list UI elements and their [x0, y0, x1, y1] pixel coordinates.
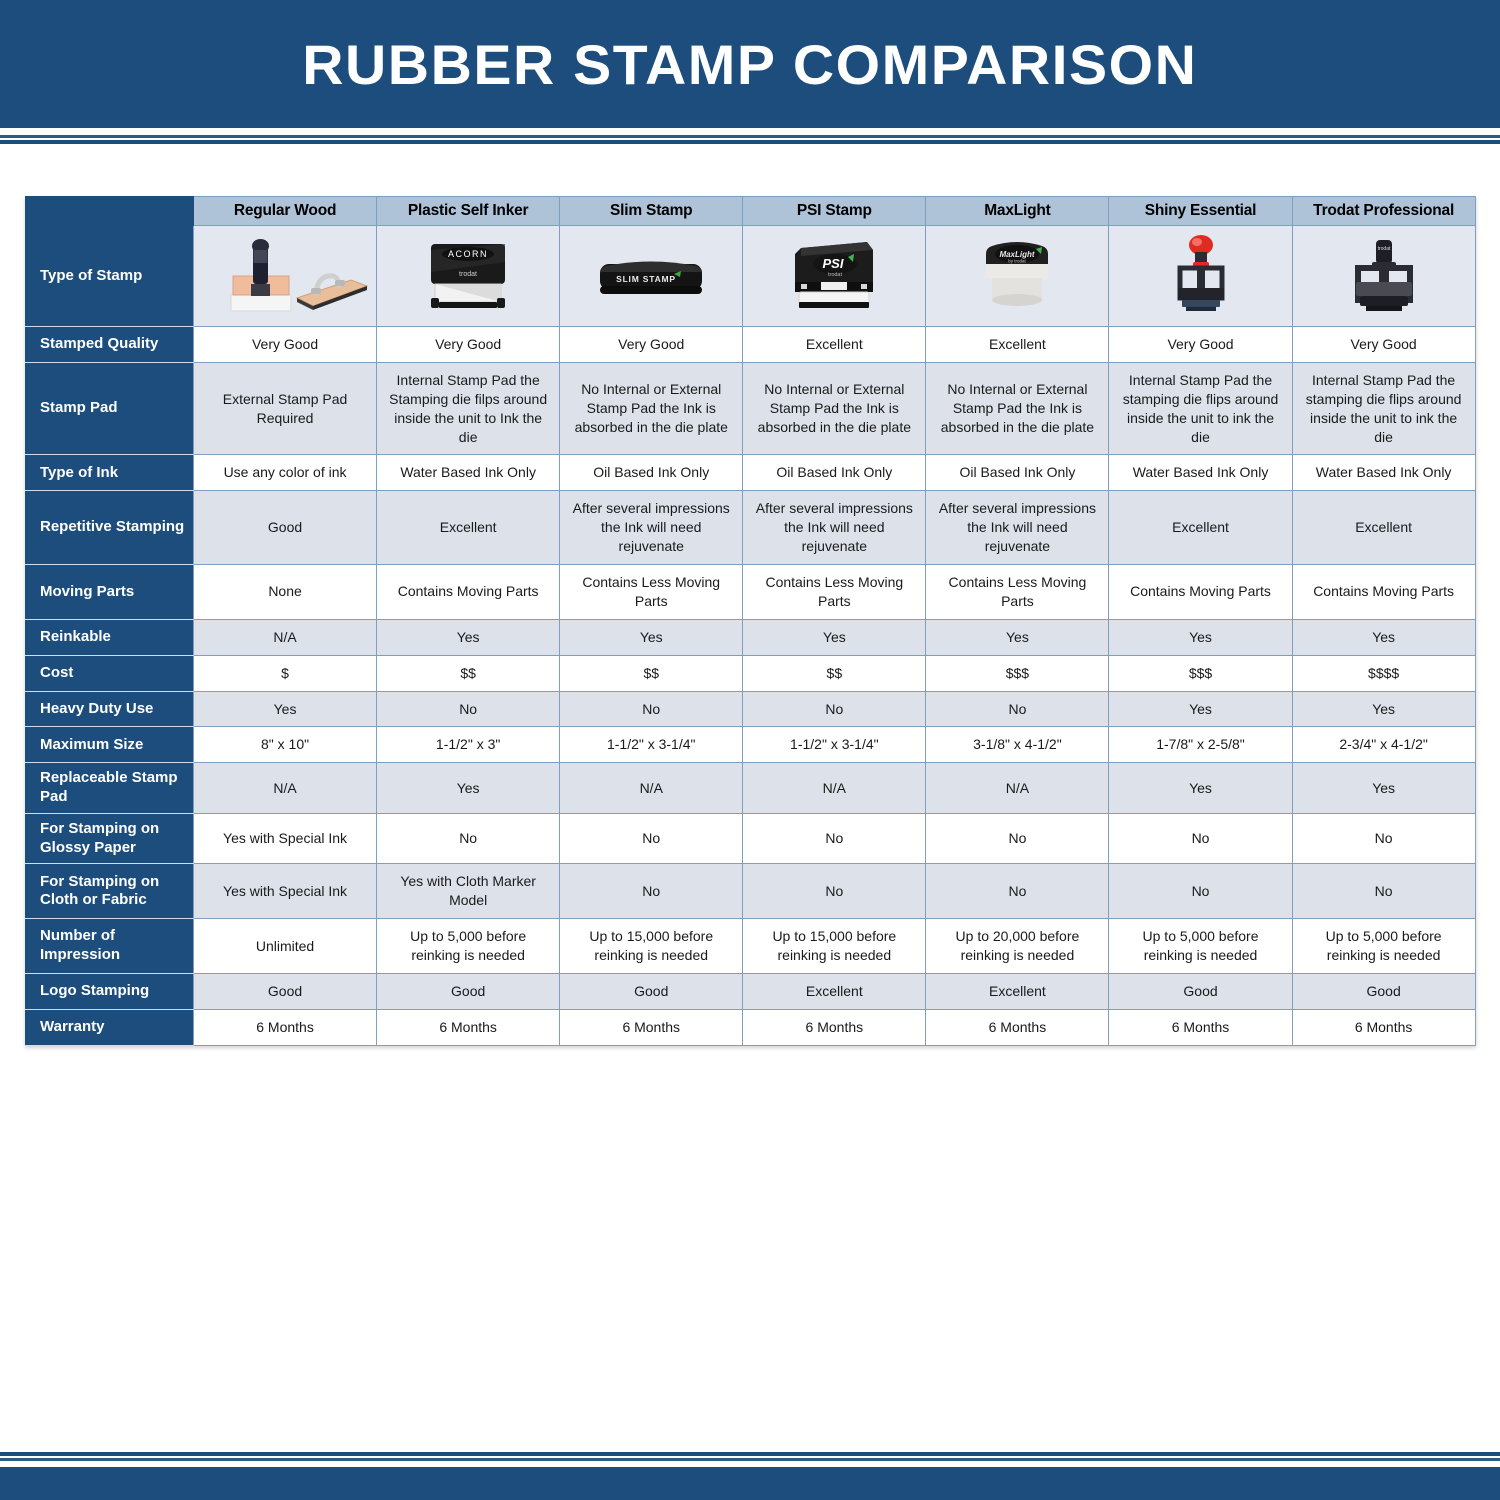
- cell-stamp-pad-maxlight: No Internal or External Stamp Pad the In…: [926, 362, 1109, 455]
- shiny-essential-stamp-image: [1111, 230, 1289, 322]
- cell-glossy-paper-plastic-self-inker: No: [377, 813, 560, 864]
- cell-number-of-impression-psi-stamp: Up to 15,000 before reinking is needed: [743, 919, 926, 974]
- slim-stamp-image: SLIM STAMP: [562, 230, 740, 322]
- maxlight-stamp-image: MaxLight by trodat: [928, 230, 1106, 322]
- cell-reinkable-trodat-professional: Yes: [1292, 619, 1475, 655]
- cell-logo-stamping-maxlight: Excellent: [926, 973, 1109, 1009]
- svg-text:trodat: trodat: [1377, 246, 1390, 252]
- cell-replaceable-stamp-pad-trodat-professional: Yes: [1292, 763, 1475, 814]
- cell-moving-parts-maxlight: Contains Less Moving Parts: [926, 565, 1109, 620]
- row-label-for-stamping-on-cloth-or-fabric: For Stamping on Cloth or Fabric: [26, 864, 194, 919]
- table-body: Type of Stamp: [26, 226, 1476, 1046]
- table-row-number-of-impression: Number of Impression Unlimited Up to 5,0…: [26, 919, 1476, 974]
- cell-maximum-size-trodat-professional: 2-3/4" x 4-1/2": [1292, 727, 1475, 763]
- cell-reinkable-plastic-self-inker: Yes: [377, 619, 560, 655]
- psi-stamp-image: PSI trodat: [745, 230, 923, 322]
- cell-heavy-duty-use-psi-stamp: No: [743, 691, 926, 727]
- plastic-self-inker-stamp-image: ACORN trodat: [379, 230, 557, 322]
- cell-cost-psi-stamp: $$: [743, 655, 926, 691]
- cell-heavy-duty-use-plastic-self-inker: No: [377, 691, 560, 727]
- cell-type-of-stamp-maxlight: MaxLight by trodat: [926, 226, 1109, 327]
- table-row-cost: Cost $ $$ $$ $$ $$$ $$$ $$$$: [26, 655, 1476, 691]
- table-row-type-of-ink: Type of Ink Use any color of ink Water B…: [26, 455, 1476, 491]
- cell-number-of-impression-trodat-professional: Up to 5,000 before reinking is needed: [1292, 919, 1475, 974]
- cell-cloth-fabric-plastic-self-inker: Yes with Cloth Marker Model: [377, 864, 560, 919]
- cell-number-of-impression-maxlight: Up to 20,000 before reinking is needed: [926, 919, 1109, 974]
- table-row-warranty: Warranty 6 Months 6 Months 6 Months 6 Mo…: [26, 1009, 1476, 1045]
- cell-replaceable-stamp-pad-psi-stamp: N/A: [743, 763, 926, 814]
- cell-warranty-shiny-essential: 6 Months: [1109, 1009, 1292, 1045]
- cell-heavy-duty-use-trodat-professional: Yes: [1292, 691, 1475, 727]
- regular-wood-stamp-image: [196, 230, 374, 322]
- table-row-for-stamping-on-glossy-paper: For Stamping on Glossy Paper Yes with Sp…: [26, 813, 1476, 864]
- cell-logo-stamping-slim-stamp: Good: [560, 973, 743, 1009]
- cell-heavy-duty-use-regular-wood: Yes: [194, 691, 377, 727]
- cell-repetitive-stamping-trodat-professional: Excellent: [1292, 491, 1475, 565]
- cell-number-of-impression-plastic-self-inker: Up to 5,000 before reinking is needed: [377, 919, 560, 974]
- cell-number-of-impression-shiny-essential: Up to 5,000 before reinking is needed: [1109, 919, 1292, 974]
- cell-type-of-stamp-slim-stamp: SLIM STAMP: [560, 226, 743, 327]
- cell-logo-stamping-shiny-essential: Good: [1109, 973, 1292, 1009]
- row-label-replaceable-stamp-pad: Replaceable Stamp Pad: [26, 763, 194, 814]
- cell-reinkable-regular-wood: N/A: [194, 619, 377, 655]
- row-label-type-of-stamp: Type of Stamp: [26, 226, 194, 327]
- cell-cost-regular-wood: $: [194, 655, 377, 691]
- cell-logo-stamping-plastic-self-inker: Good: [377, 973, 560, 1009]
- column-header-trodat-professional: Trodat Professional: [1292, 197, 1475, 226]
- cell-stamp-pad-trodat-professional: Internal Stamp Pad the stamping die flip…: [1292, 362, 1475, 455]
- cell-reinkable-shiny-essential: Yes: [1109, 619, 1292, 655]
- svg-text:SLIM STAMP: SLIM STAMP: [616, 274, 676, 284]
- banner-divider-white-top: [0, 128, 1500, 135]
- cell-reinkable-slim-stamp: Yes: [560, 619, 743, 655]
- cell-cost-trodat-professional: $$$$: [1292, 655, 1475, 691]
- column-header-plastic-self-inker: Plastic Self Inker: [377, 197, 560, 226]
- svg-text:PSI: PSI: [823, 256, 844, 271]
- table-row-heavy-duty-use: Heavy Duty Use Yes No No No No Yes Yes: [26, 691, 1476, 727]
- svg-text:trodat: trodat: [459, 271, 477, 278]
- cell-number-of-impression-regular-wood: Unlimited: [194, 919, 377, 974]
- row-label-maximum-size: Maximum Size: [26, 727, 194, 763]
- comparison-table-wrapper: Regular Wood Plastic Self Inker Slim Sta…: [25, 196, 1475, 1046]
- cell-moving-parts-shiny-essential: Contains Moving Parts: [1109, 565, 1292, 620]
- table-header-row: Regular Wood Plastic Self Inker Slim Sta…: [26, 197, 1476, 226]
- table-row-maximum-size: Maximum Size 8" x 10" 1-1/2" x 3" 1-1/2"…: [26, 727, 1476, 763]
- table-row-moving-parts: Moving Parts None Contains Moving Parts …: [26, 565, 1476, 620]
- cell-type-of-ink-trodat-professional: Water Based Ink Only: [1292, 455, 1475, 491]
- cell-repetitive-stamping-shiny-essential: Excellent: [1109, 491, 1292, 565]
- table-row-stamp-pad: Stamp Pad External Stamp Pad Required In…: [26, 362, 1476, 455]
- table-row-stamped-quality: Stamped Quality Very Good Very Good Very…: [26, 327, 1476, 363]
- column-header-maxlight: MaxLight: [926, 197, 1109, 226]
- cell-cloth-fabric-regular-wood: Yes with Special Ink: [194, 864, 377, 919]
- cell-logo-stamping-psi-stamp: Excellent: [743, 973, 926, 1009]
- cell-glossy-paper-shiny-essential: No: [1109, 813, 1292, 864]
- cell-cloth-fabric-slim-stamp: No: [560, 864, 743, 919]
- cell-stamp-pad-psi-stamp: No Internal or External Stamp Pad the In…: [743, 362, 926, 455]
- cell-maximum-size-regular-wood: 8" x 10": [194, 727, 377, 763]
- cell-heavy-duty-use-slim-stamp: No: [560, 691, 743, 727]
- cell-replaceable-stamp-pad-plastic-self-inker: Yes: [377, 763, 560, 814]
- cell-warranty-trodat-professional: 6 Months: [1292, 1009, 1475, 1045]
- table-corner-cell: [26, 197, 194, 226]
- row-label-number-of-impression: Number of Impression: [26, 919, 194, 974]
- cell-moving-parts-plastic-self-inker: Contains Moving Parts: [377, 565, 560, 620]
- cell-type-of-stamp-shiny-essential: [1109, 226, 1292, 327]
- cell-glossy-paper-psi-stamp: No: [743, 813, 926, 864]
- table-row-replaceable-stamp-pad: Replaceable Stamp Pad N/A Yes N/A N/A N/…: [26, 763, 1476, 814]
- bottom-banner: [0, 1467, 1500, 1500]
- cell-type-of-stamp-regular-wood: [194, 226, 377, 327]
- cell-cost-slim-stamp: $$: [560, 655, 743, 691]
- cell-heavy-duty-use-maxlight: No: [926, 691, 1109, 727]
- row-label-for-stamping-on-glossy-paper: For Stamping on Glossy Paper: [26, 813, 194, 864]
- cell-repetitive-stamping-psi-stamp: After several impressions the Ink will n…: [743, 491, 926, 565]
- cell-replaceable-stamp-pad-regular-wood: N/A: [194, 763, 377, 814]
- cell-stamp-pad-plastic-self-inker: Internal Stamp Pad the Stamping die filp…: [377, 362, 560, 455]
- svg-text:ACORN: ACORN: [448, 249, 488, 259]
- row-label-logo-stamping: Logo Stamping: [26, 973, 194, 1009]
- cell-replaceable-stamp-pad-maxlight: N/A: [926, 763, 1109, 814]
- cell-stamp-pad-shiny-essential: Internal Stamp Pad the stamping die flip…: [1109, 362, 1292, 455]
- top-banner: RUBBER STAMP COMPARISON: [0, 0, 1500, 128]
- cell-glossy-paper-trodat-professional: No: [1292, 813, 1475, 864]
- cell-stamped-quality-regular-wood: Very Good: [194, 327, 377, 363]
- row-label-stamped-quality: Stamped Quality: [26, 327, 194, 363]
- comparison-page: RUBBER STAMP COMPARISON Regular Wood Pla…: [0, 0, 1500, 1500]
- cell-number-of-impression-slim-stamp: Up to 15,000 before reinking is needed: [560, 919, 743, 974]
- cell-warranty-psi-stamp: 6 Months: [743, 1009, 926, 1045]
- cell-type-of-ink-shiny-essential: Water Based Ink Only: [1109, 455, 1292, 491]
- table-row-for-stamping-on-cloth-or-fabric: For Stamping on Cloth or Fabric Yes with…: [26, 864, 1476, 919]
- cell-stamped-quality-slim-stamp: Very Good: [560, 327, 743, 363]
- cell-type-of-ink-plastic-self-inker: Water Based Ink Only: [377, 455, 560, 491]
- cell-repetitive-stamping-slim-stamp: After several impressions the Ink will n…: [560, 491, 743, 565]
- row-label-reinkable: Reinkable: [26, 619, 194, 655]
- cell-warranty-regular-wood: 6 Months: [194, 1009, 377, 1045]
- column-header-shiny-essential: Shiny Essential: [1109, 197, 1292, 226]
- cell-maximum-size-plastic-self-inker: 1-1/2" x 3": [377, 727, 560, 763]
- column-header-slim-stamp: Slim Stamp: [560, 197, 743, 226]
- table-header: Regular Wood Plastic Self Inker Slim Sta…: [26, 197, 1476, 226]
- cell-stamped-quality-psi-stamp: Excellent: [743, 327, 926, 363]
- banner-divider-blue-bottom: [0, 140, 1500, 144]
- cell-cost-maxlight: $$$: [926, 655, 1109, 691]
- cell-glossy-paper-regular-wood: Yes with Special Ink: [194, 813, 377, 864]
- cell-moving-parts-trodat-professional: Contains Moving Parts: [1292, 565, 1475, 620]
- table-row-logo-stamping: Logo Stamping Good Good Good Excellent E…: [26, 973, 1476, 1009]
- cell-stamped-quality-trodat-professional: Very Good: [1292, 327, 1475, 363]
- cell-replaceable-stamp-pad-shiny-essential: Yes: [1109, 763, 1292, 814]
- cell-type-of-stamp-plastic-self-inker: ACORN trodat: [377, 226, 560, 327]
- cell-moving-parts-regular-wood: None: [194, 565, 377, 620]
- cell-stamped-quality-plastic-self-inker: Very Good: [377, 327, 560, 363]
- row-label-heavy-duty-use: Heavy Duty Use: [26, 691, 194, 727]
- cell-warranty-plastic-self-inker: 6 Months: [377, 1009, 560, 1045]
- cell-repetitive-stamping-regular-wood: Good: [194, 491, 377, 565]
- cell-heavy-duty-use-shiny-essential: Yes: [1109, 691, 1292, 727]
- cell-stamp-pad-slim-stamp: No Internal or External Stamp Pad the In…: [560, 362, 743, 455]
- cell-cost-shiny-essential: $$$: [1109, 655, 1292, 691]
- row-label-warranty: Warranty: [26, 1009, 194, 1045]
- row-label-repetitive-stamping: Repetitive Stamping: [26, 491, 194, 565]
- cell-cloth-fabric-trodat-professional: No: [1292, 864, 1475, 919]
- cell-glossy-paper-maxlight: No: [926, 813, 1109, 864]
- cell-cost-plastic-self-inker: $$: [377, 655, 560, 691]
- row-label-cost: Cost: [26, 655, 194, 691]
- cell-repetitive-stamping-maxlight: After several impressions the Ink will n…: [926, 491, 1109, 565]
- cell-maximum-size-shiny-essential: 1-7/8" x 2-5/8": [1109, 727, 1292, 763]
- cell-type-of-stamp-psi-stamp: PSI trodat: [743, 226, 926, 327]
- cell-warranty-maxlight: 6 Months: [926, 1009, 1109, 1045]
- cell-logo-stamping-trodat-professional: Good: [1292, 973, 1475, 1009]
- cell-cloth-fabric-maxlight: No: [926, 864, 1109, 919]
- cell-cloth-fabric-psi-stamp: No: [743, 864, 926, 919]
- cell-type-of-ink-maxlight: Oil Based Ink Only: [926, 455, 1109, 491]
- cell-type-of-ink-regular-wood: Use any color of ink: [194, 455, 377, 491]
- column-header-regular-wood: Regular Wood: [194, 197, 377, 226]
- column-header-psi-stamp: PSI Stamp: [743, 197, 926, 226]
- cell-reinkable-maxlight: Yes: [926, 619, 1109, 655]
- table-row-repetitive-stamping: Repetitive Stamping Good Excellent After…: [26, 491, 1476, 565]
- svg-text:trodat: trodat: [828, 272, 843, 278]
- trodat-professional-stamp-image: trodat: [1295, 230, 1473, 322]
- cell-type-of-ink-psi-stamp: Oil Based Ink Only: [743, 455, 926, 491]
- row-label-stamp-pad: Stamp Pad: [26, 362, 194, 455]
- stamp-comparison-table: Regular Wood Plastic Self Inker Slim Sta…: [25, 196, 1476, 1046]
- cell-logo-stamping-regular-wood: Good: [194, 973, 377, 1009]
- cell-repetitive-stamping-plastic-self-inker: Excellent: [377, 491, 560, 565]
- cell-warranty-slim-stamp: 6 Months: [560, 1009, 743, 1045]
- cell-cloth-fabric-shiny-essential: No: [1109, 864, 1292, 919]
- cell-type-of-ink-slim-stamp: Oil Based Ink Only: [560, 455, 743, 491]
- svg-text:by trodat: by trodat: [1009, 259, 1027, 264]
- cell-maximum-size-slim-stamp: 1-1/2" x 3-1/4": [560, 727, 743, 763]
- table-row-type-of-stamp: Type of Stamp: [26, 226, 1476, 327]
- cell-stamp-pad-regular-wood: External Stamp Pad Required: [194, 362, 377, 455]
- cell-moving-parts-psi-stamp: Contains Less Moving Parts: [743, 565, 926, 620]
- cell-glossy-paper-slim-stamp: No: [560, 813, 743, 864]
- cell-replaceable-stamp-pad-slim-stamp: N/A: [560, 763, 743, 814]
- cell-stamped-quality-maxlight: Excellent: [926, 327, 1109, 363]
- cell-moving-parts-slim-stamp: Contains Less Moving Parts: [560, 565, 743, 620]
- row-label-moving-parts: Moving Parts: [26, 565, 194, 620]
- cell-maximum-size-psi-stamp: 1-1/2" x 3-1/4": [743, 727, 926, 763]
- table-row-reinkable: Reinkable N/A Yes Yes Yes Yes Yes Yes: [26, 619, 1476, 655]
- cell-reinkable-psi-stamp: Yes: [743, 619, 926, 655]
- cell-stamped-quality-shiny-essential: Very Good: [1109, 327, 1292, 363]
- page-title: RUBBER STAMP COMPARISON: [302, 32, 1197, 97]
- row-label-type-of-ink: Type of Ink: [26, 455, 194, 491]
- cell-maximum-size-maxlight: 3-1/8" x 4-1/2": [926, 727, 1109, 763]
- cell-type-of-stamp-trodat-professional: trodat: [1292, 226, 1475, 327]
